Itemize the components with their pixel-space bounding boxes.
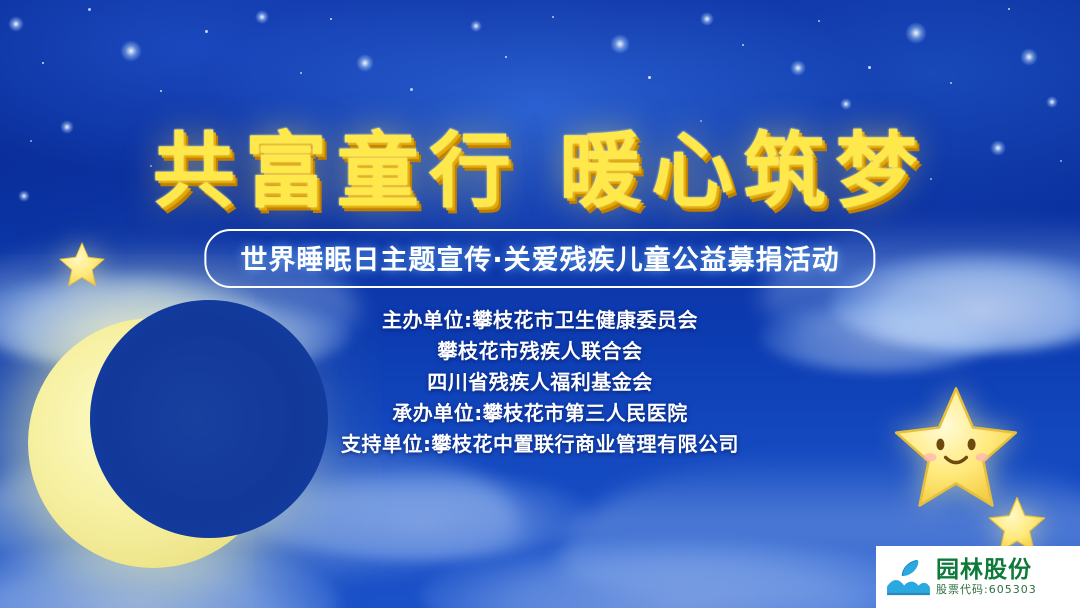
sponsor-logo: 园林股份 股票代码:605303 xyxy=(876,546,1080,608)
star-dot xyxy=(88,8,91,11)
star-dot xyxy=(552,16,554,18)
star-dot xyxy=(648,76,651,79)
star-speck xyxy=(905,22,927,44)
star-dot xyxy=(330,18,332,20)
poster-canvas: 共富童行 暖心筑梦 世界睡眠日主题宣传·关爱残疾儿童公益募捐活动 主办单位:攀枝… xyxy=(0,0,1080,608)
organizer-line: 支持单位:攀枝花中置联行商业管理有限公司 xyxy=(0,429,1080,460)
logo-company-name: 园林股份 xyxy=(936,558,1037,583)
star-dot xyxy=(410,88,413,91)
organizer-list: 主办单位:攀枝花市卫生健康委员会 攀枝花市残疾人联合会 四川省残疾人福利基金会 … xyxy=(0,305,1080,460)
small-star-icon xyxy=(986,494,1048,554)
star-dot xyxy=(742,44,744,46)
star-speck xyxy=(255,10,269,24)
star-speck xyxy=(790,60,806,76)
star-speck xyxy=(8,16,24,32)
star-speck xyxy=(1020,48,1038,66)
small-star-icon xyxy=(58,240,106,288)
star-speck xyxy=(120,40,142,62)
star-speck xyxy=(700,12,714,26)
logo-text-block: 园林股份 股票代码:605303 xyxy=(936,558,1037,597)
main-title: 共富童行 暖心筑梦 xyxy=(0,104,1080,223)
star-dot xyxy=(1008,8,1010,10)
star-dot xyxy=(300,72,302,74)
star-dot xyxy=(818,20,820,22)
logo-stock-code: 股票代码:605303 xyxy=(936,583,1037,597)
star-speck xyxy=(610,34,630,54)
organizer-line: 主办单位:攀枝花市卫生健康委员会 xyxy=(0,305,1080,336)
organizer-line: 承办单位:攀枝花市第三人民医院 xyxy=(0,398,1080,429)
star-dot xyxy=(505,56,507,58)
star-dot xyxy=(950,82,952,84)
organizer-line: 四川省残疾人福利基金会 xyxy=(0,367,1080,398)
organizer-line: 攀枝花市残疾人联合会 xyxy=(0,336,1080,367)
star-speck xyxy=(470,20,482,32)
star-dot xyxy=(160,90,162,92)
star-dot xyxy=(42,62,44,64)
star-dot xyxy=(205,30,208,33)
subtitle-banner: 世界睡眠日主题宣传·关爱残疾儿童公益募捐活动 xyxy=(204,229,875,288)
star-speck xyxy=(356,54,374,72)
leaf-hill-logo-icon xyxy=(884,557,932,597)
star-dot xyxy=(868,66,871,69)
